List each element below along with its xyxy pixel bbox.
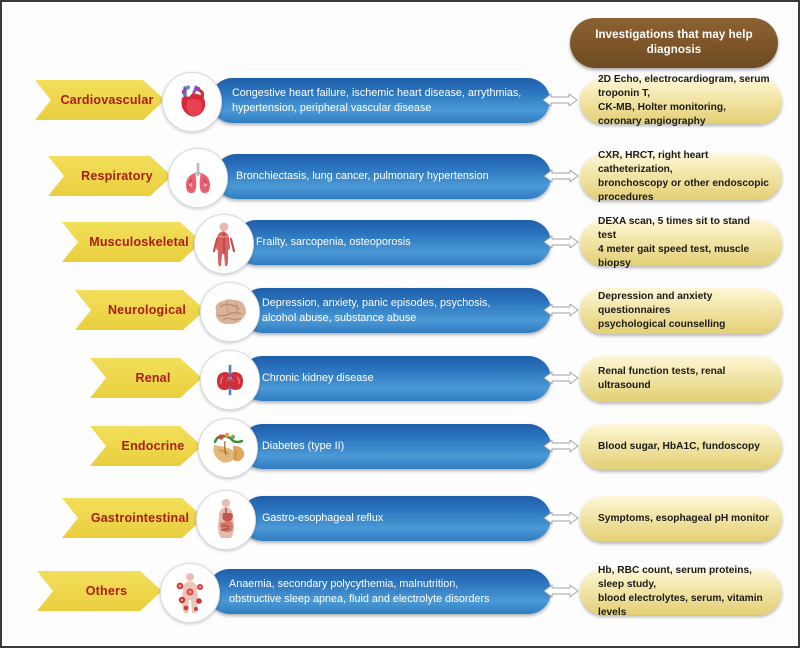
conditions-line: Frailty, sarcopenia, osteoporosis xyxy=(256,235,411,250)
investigations-line: Symptoms, esophageal pH monitor xyxy=(598,512,769,526)
conditions-bar[interactable]: Chronic kidney disease xyxy=(240,356,551,401)
conditions-bar[interactable]: Anaemia, secondary polycythemia, malnutr… xyxy=(207,569,551,614)
investigations-text: Hb, RBC count, serum proteins, sleep stu… xyxy=(598,564,770,620)
investigations-line: CXR, HRCT, right heart catheterization, xyxy=(598,149,770,177)
double-arrow-icon xyxy=(542,90,578,110)
system-label-text: Endocrine xyxy=(122,439,185,453)
system-label-others[interactable]: Others xyxy=(37,571,162,611)
system-row: Neurological Depression, anxiety, panic … xyxy=(2,284,800,340)
conditions-text: Depression, anxiety, panic episodes, psy… xyxy=(262,296,490,325)
system-label-cardiovascular[interactable]: Cardiovascular xyxy=(35,80,165,120)
investigations-line: psychological counselling xyxy=(598,318,770,332)
brain-icon xyxy=(200,282,260,342)
conditions-bar[interactable]: Bronchiectasis, lung cancer, pulmonary h… xyxy=(214,154,551,199)
conditions-line: alcohol abuse, substance abuse xyxy=(262,311,490,326)
investigations-line: Depression and anxiety questionnaires xyxy=(598,290,770,318)
system-label-neurological[interactable]: Neurological xyxy=(75,290,205,330)
conditions-text: Congestive heart failure, ischemic heart… xyxy=(232,86,521,115)
system-row: Others Anaemia, secondary polycythemia, … xyxy=(2,565,800,621)
investigations-text: DEXA scan, 5 times sit to stand test4 me… xyxy=(598,215,770,271)
investigations-pill[interactable]: Hb, RBC count, serum proteins, sleep stu… xyxy=(580,569,782,615)
system-label-respiratory[interactable]: Respiratory xyxy=(48,156,172,196)
kidneys-icon xyxy=(200,350,260,410)
system-label-text: Others xyxy=(86,584,128,598)
conditions-line: Congestive heart failure, ischemic heart… xyxy=(232,86,521,101)
conditions-bar[interactable]: Depression, anxiety, panic episodes, psy… xyxy=(240,288,551,333)
conditions-line: Chronic kidney disease xyxy=(262,371,374,386)
conditions-line: Depression, anxiety, panic episodes, psy… xyxy=(262,296,490,311)
system-label-text: Respiratory xyxy=(81,169,153,183)
investigations-line: Renal function tests, renal ultrasound xyxy=(598,365,770,393)
conditions-line: Gastro-esophageal reflux xyxy=(262,511,383,526)
investigations-text: 2D Echo, electrocardiogram, serum tropon… xyxy=(598,73,770,129)
investigations-text: Depression and anxiety questionnairespsy… xyxy=(598,290,770,332)
header-investigations-banner: Investigations that may help diagnosis xyxy=(570,18,778,68)
conditions-text: Gastro-esophageal reflux xyxy=(262,511,383,526)
system-row: Cardiovascular Congestive heart failure,… xyxy=(2,74,800,130)
digestive-system-icon xyxy=(196,490,256,550)
conditions-text: Bronchiectasis, lung cancer, pulmonary h… xyxy=(236,169,489,184)
investigations-line: Hb, RBC count, serum proteins, sleep stu… xyxy=(598,564,770,592)
system-label-text: Renal xyxy=(135,371,170,385)
system-label-text: Gastrointestinal xyxy=(91,511,189,525)
investigations-line: 2D Echo, electrocardiogram, serum tropon… xyxy=(598,73,770,101)
conditions-text: Anaemia, secondary polycythemia, malnutr… xyxy=(229,577,489,606)
investigations-text: Blood sugar, HbA1C, fundoscopy xyxy=(598,440,760,454)
conditions-bar[interactable]: Diabetes (type II) xyxy=(240,424,551,469)
system-row: Musculoskeletal Frailty, sarcopenia, ost… xyxy=(2,216,800,272)
double-arrow-icon xyxy=(543,581,579,601)
double-arrow-icon xyxy=(543,436,579,456)
investigations-line: CK-MB, Holter monitoring, coronary angio… xyxy=(598,101,770,129)
investigations-text: CXR, HRCT, right heart catheterization,b… xyxy=(598,149,770,205)
investigations-pill[interactable]: Renal function tests, renal ultrasound xyxy=(580,356,782,402)
heart-icon xyxy=(162,72,222,132)
system-label-text: Neurological xyxy=(108,303,186,317)
double-arrow-icon xyxy=(543,166,579,186)
double-arrow-icon xyxy=(543,232,579,252)
investigations-pill[interactable]: 2D Echo, electrocardiogram, serum tropon… xyxy=(580,78,782,124)
investigations-pill[interactable]: Blood sugar, HbA1C, fundoscopy xyxy=(580,424,782,470)
conditions-line: obstructive sleep apnea, fluid and elect… xyxy=(229,592,489,607)
conditions-text: Chronic kidney disease xyxy=(262,371,374,386)
conditions-line: Anaemia, secondary polycythemia, malnutr… xyxy=(229,577,489,592)
investigations-line: 4 meter gait speed test, muscle biopsy xyxy=(598,243,770,271)
investigations-line: DEXA scan, 5 times sit to stand test xyxy=(598,215,770,243)
conditions-line: Diabetes (type II) xyxy=(262,439,344,454)
system-label-renal[interactable]: Renal xyxy=(90,358,202,398)
system-label-endocrine[interactable]: Endocrine xyxy=(90,426,202,466)
header-title: Investigations that may help diagnosis xyxy=(580,28,768,58)
double-arrow-icon xyxy=(543,300,579,320)
skeletal-body-icon xyxy=(194,214,254,274)
double-arrow-icon xyxy=(543,508,579,528)
investigations-pill[interactable]: DEXA scan, 5 times sit to stand test4 me… xyxy=(580,220,782,266)
blood-cells-icon xyxy=(160,563,220,623)
conditions-line: hypertension, peripheral vascular diseas… xyxy=(232,101,521,116)
investigations-text: Renal function tests, renal ultrasound xyxy=(598,365,770,393)
system-label-text: Musculoskeletal xyxy=(89,235,189,249)
conditions-bar[interactable]: Gastro-esophageal reflux xyxy=(240,496,551,541)
conditions-text: Diabetes (type II) xyxy=(262,439,344,454)
diagram-canvas: Investigations that may help diagnosis C… xyxy=(2,2,798,646)
diagram-frame: Investigations that may help diagnosis C… xyxy=(0,0,800,648)
investigations-pill[interactable]: Symptoms, esophageal pH monitor xyxy=(580,496,782,542)
investigations-pill[interactable]: Depression and anxiety questionnairespsy… xyxy=(580,288,782,334)
lungs-icon xyxy=(168,148,228,208)
investigations-line: bronchoscopy or other endoscopic procedu… xyxy=(598,177,770,205)
investigations-line: Blood sugar, HbA1C, fundoscopy xyxy=(598,440,760,454)
system-row: Renal Chronic kidney disease Renal funct… xyxy=(2,352,800,408)
conditions-line: Bronchiectasis, lung cancer, pulmonary h… xyxy=(236,169,489,184)
investigations-line: blood electrolytes, serum, vitamin level… xyxy=(598,592,770,620)
double-arrow-icon xyxy=(543,368,579,388)
conditions-bar[interactable]: Frailty, sarcopenia, osteoporosis xyxy=(234,220,551,265)
conditions-text: Frailty, sarcopenia, osteoporosis xyxy=(256,235,411,250)
system-label-gastrointestinal[interactable]: Gastrointestinal xyxy=(62,498,204,538)
system-row: Respiratory Bronchiectasis, lung cancer,… xyxy=(2,150,800,206)
system-label-text: Cardiovascular xyxy=(60,93,153,107)
conditions-bar[interactable]: Congestive heart failure, ischemic heart… xyxy=(210,78,550,123)
pancreas-icon xyxy=(198,418,258,478)
system-row: Endocrine Diabetes (type II) Blood sugar… xyxy=(2,420,800,476)
investigations-text: Symptoms, esophageal pH monitor xyxy=(598,512,769,526)
investigations-pill[interactable]: CXR, HRCT, right heart catheterization,b… xyxy=(580,154,782,200)
system-label-musculoskeletal[interactable]: Musculoskeletal xyxy=(62,222,202,262)
system-row: Gastrointestinal Gastro-esophageal reflu… xyxy=(2,492,800,548)
